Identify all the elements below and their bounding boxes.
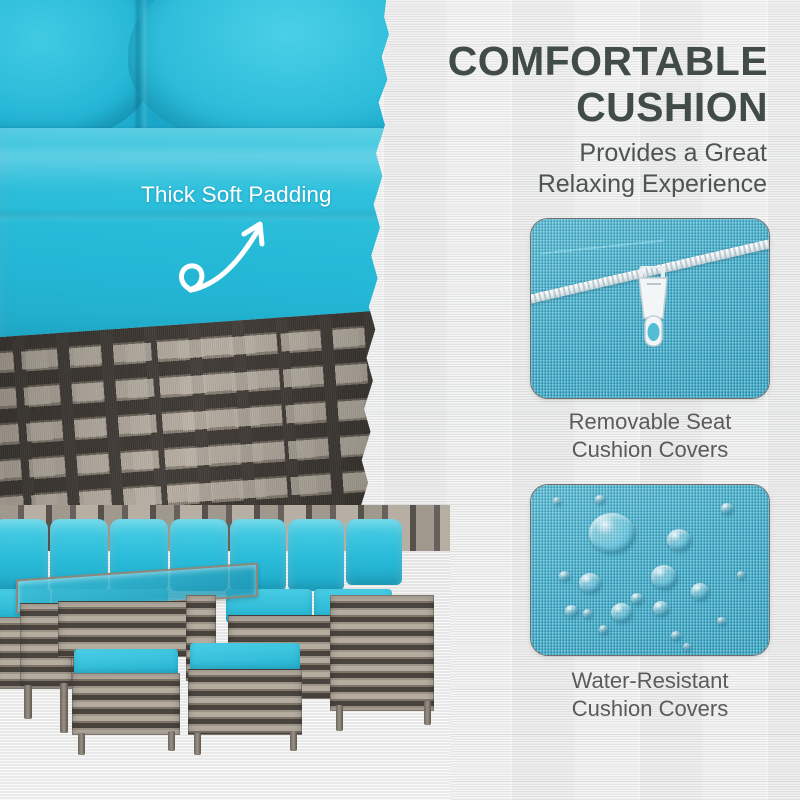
patio-sectional-sofa-set — [0, 505, 450, 800]
water-droplet — [667, 529, 691, 551]
sofa-leg — [336, 705, 343, 731]
water-droplet — [721, 503, 733, 514]
water-droplet — [583, 609, 592, 618]
thick-soft-padding-label: Thick Soft Padding — [141, 182, 332, 208]
water-droplet — [579, 573, 601, 593]
sofa-arm-right — [330, 595, 434, 711]
water-droplet — [611, 603, 632, 622]
ottoman-leg — [168, 731, 175, 751]
headline-line-1: COMFORTABLE — [348, 38, 768, 84]
caption-line-2: Cushion Covers — [500, 695, 800, 723]
ottoman-frame — [72, 673, 180, 735]
ottoman-leg — [78, 733, 85, 755]
page-title: COMFORTABLE CUSHION — [348, 38, 768, 130]
water-droplet — [651, 565, 677, 589]
water-droplet — [553, 497, 561, 505]
ottoman-leg — [290, 731, 297, 751]
ottoman-leg — [194, 733, 201, 755]
seat-cushion-fold — [0, 212, 400, 220]
headline-line-2: CUSHION — [348, 84, 768, 130]
feature-caption: Removable Seat Cushion Covers — [500, 408, 800, 464]
water-droplet — [631, 593, 643, 604]
subhead-line-1: Provides a Great — [347, 138, 767, 169]
page-subtitle: Provides a Great Relaxing Experience — [347, 138, 767, 200]
ottoman-cushion — [74, 649, 178, 675]
caption-line-1: Water-Resistant — [500, 667, 800, 695]
zipper-pull-tab-icon — [636, 266, 670, 350]
cushion-and-rattan-closeup — [0, 0, 400, 568]
back-cushions — [0, 0, 400, 142]
table-leg — [24, 685, 32, 719]
water-droplet — [589, 513, 635, 553]
water-droplet — [671, 631, 681, 640]
water-droplets-photo — [530, 484, 770, 656]
caption-line-1: Removable Seat — [500, 408, 800, 436]
ottoman-cushion — [190, 643, 300, 671]
caption-line-2: Cushion Covers — [500, 436, 800, 464]
water-droplet — [653, 601, 669, 616]
water-droplet — [683, 643, 691, 650]
water-droplet — [565, 605, 578, 617]
ottoman-frame — [188, 669, 302, 735]
infographic-canvas: Thick Soft Padding COMFORTABLE CUSHION P… — [0, 0, 800, 800]
water-droplet — [717, 617, 726, 625]
cushion-crease — [136, 0, 146, 142]
fabric-texture — [531, 485, 769, 655]
water-droplet — [595, 495, 605, 504]
table-leg — [60, 683, 68, 733]
water-droplet — [691, 583, 709, 600]
zipper-closeup-photo — [530, 218, 770, 399]
feature-caption: Water-Resistant Cushion Covers — [500, 667, 800, 723]
sofa-leg — [424, 701, 431, 725]
sofa-back-cushion — [288, 519, 344, 591]
water-droplet — [737, 571, 745, 579]
sofa-back-cushion — [346, 519, 402, 585]
water-droplet — [599, 625, 608, 634]
water-droplet — [559, 571, 570, 581]
subhead-line-2: Relaxing Experience — [347, 169, 767, 200]
